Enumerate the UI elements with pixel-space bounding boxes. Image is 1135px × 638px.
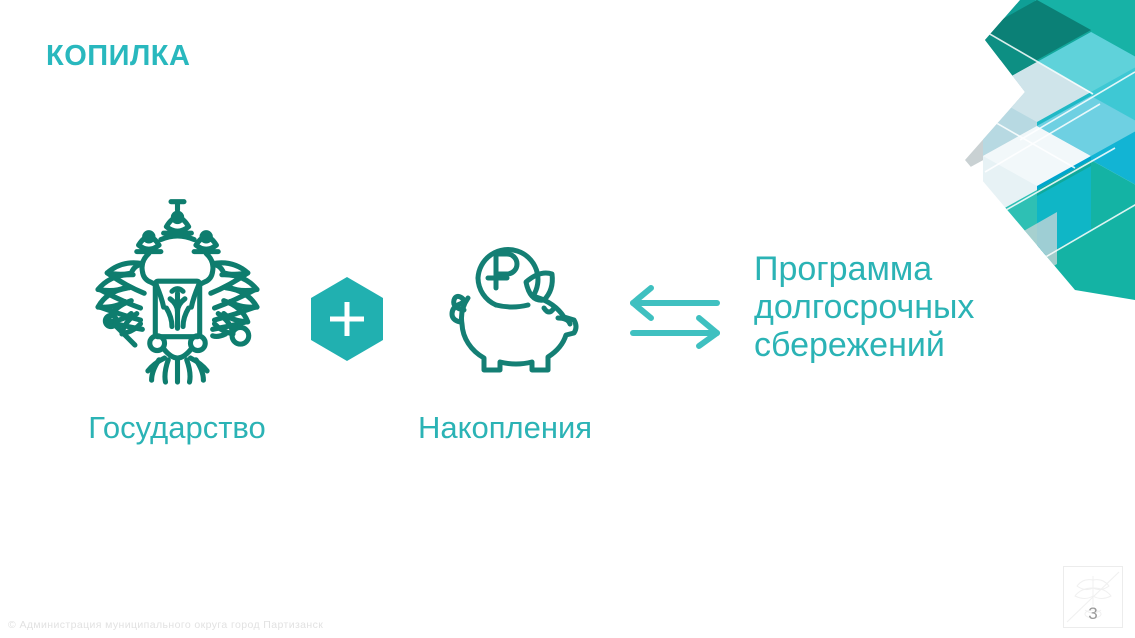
caption-savings: Накопления (388, 410, 622, 446)
page-badge: 3 (1063, 566, 1123, 628)
program-heading-line-2: долгосрочных (754, 288, 1094, 326)
plus-hexagon-icon (307, 275, 387, 363)
russian-coat-of-arms-icon (85, 195, 270, 385)
page-title: КОПИЛКА (46, 40, 190, 73)
program-heading-line-3: сбережений (754, 326, 1094, 364)
footer-copyright: © Администрация муниципального округа го… (8, 619, 323, 631)
page-number: 3 (1063, 604, 1123, 624)
caption-state: Государство (36, 410, 318, 446)
piggy-bank-ruble-icon (440, 210, 600, 375)
slide-canvas: КОПИЛКА (0, 0, 1135, 638)
program-heading: Программа долгосрочных сбережений (754, 250, 1094, 364)
program-heading-line-1: Программа (754, 250, 1094, 288)
exchange-arrows-icon (625, 283, 725, 351)
